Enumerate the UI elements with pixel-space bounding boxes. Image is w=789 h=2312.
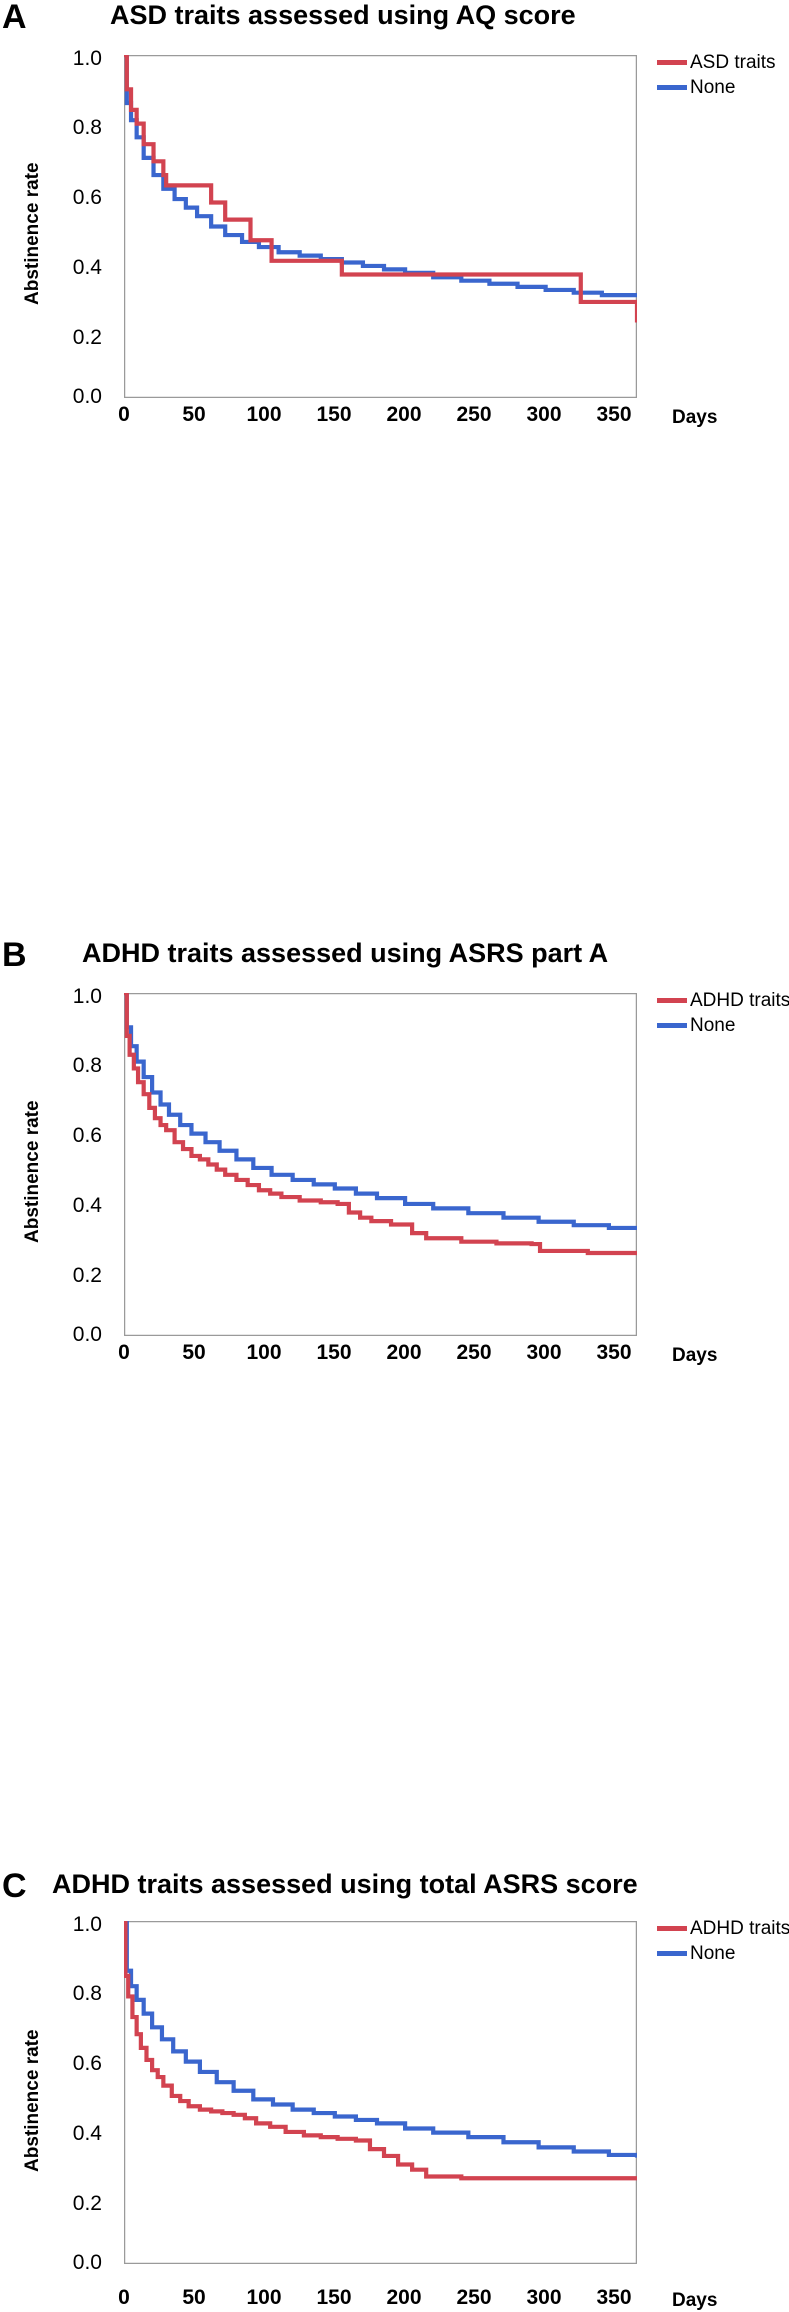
panel-c-xtick-3: 150 bbox=[304, 2287, 364, 2308]
panel-c-xtick-4: 200 bbox=[374, 2287, 434, 2308]
panel-a-xtick-7: 350 bbox=[584, 404, 644, 425]
panel-c-ytick-4: 0.2 bbox=[50, 2193, 102, 2214]
legend-label-none: None bbox=[690, 77, 735, 99]
panel-a-xtick-6: 300 bbox=[514, 404, 574, 425]
panel-b: B ADHD traits assessed using ASRS part A… bbox=[0, 466, 789, 932]
panel-a-xtick-2: 100 bbox=[234, 404, 294, 425]
legend-swatch-traits bbox=[657, 60, 687, 65]
legend-swatch-none bbox=[657, 85, 687, 90]
legend-item-none: None bbox=[657, 75, 776, 100]
legend-item-traits: ADHD traits bbox=[657, 1916, 789, 1941]
panel-c-title: ADHD traits assessed using total ASRS sc… bbox=[52, 1871, 638, 1898]
panel-c-y-axis-label: Abstinence rate bbox=[22, 2029, 44, 2172]
panel-c-xtick-7: 350 bbox=[584, 2287, 644, 2308]
panel-c-xtick-1: 50 bbox=[164, 2287, 224, 2308]
panel-c-x-axis-label: Days bbox=[672, 2290, 717, 2312]
legend-label-traits: ADHD traits bbox=[690, 1918, 789, 1940]
legend-label-none: None bbox=[690, 1943, 735, 1965]
panel-a-legend: ASD traits None bbox=[657, 50, 776, 100]
panel-c: C ADHD traits assessed using total ASRS … bbox=[0, 932, 789, 1391]
panel-a-xtick-5: 250 bbox=[444, 404, 504, 425]
legend-item-none: None bbox=[657, 1941, 789, 1966]
panel-c-plot bbox=[124, 1921, 637, 2264]
figure-kaplan-meier-panels: A ASD traits assessed using AQ score Abs… bbox=[0, 0, 789, 1391]
panel-c-ytick-2: 0.6 bbox=[50, 2053, 102, 2074]
panel-a-ytick-1: 0.8 bbox=[50, 117, 102, 138]
panel-a: A ASD traits assessed using AQ score Abs… bbox=[0, 0, 789, 466]
panel-c-letter: C bbox=[2, 1869, 27, 1903]
panel-a-xtick-1: 50 bbox=[164, 404, 224, 425]
panel-a-xtick-4: 200 bbox=[374, 404, 434, 425]
panel-c-xtick-6: 300 bbox=[514, 2287, 574, 2308]
panel-a-title: ASD traits assessed using AQ score bbox=[110, 2, 576, 29]
panel-a-letter: A bbox=[2, 0, 27, 34]
panel-c-xtick-2: 100 bbox=[234, 2287, 294, 2308]
panel-a-ytick-4: 0.2 bbox=[50, 327, 102, 348]
panel-a-svg bbox=[124, 55, 637, 398]
panel-a-xtick-3: 150 bbox=[304, 404, 364, 425]
panel-c-ytick-1: 0.8 bbox=[50, 1983, 102, 2004]
panel-c-xtick-0: 0 bbox=[94, 2287, 154, 2308]
panel-c-ytick-0: 1.0 bbox=[50, 1914, 102, 1935]
panel-a-ytick-3: 0.4 bbox=[50, 257, 102, 278]
panel-a-ytick-2: 0.6 bbox=[50, 187, 102, 208]
legend-item-traits: ASD traits bbox=[657, 50, 776, 75]
panel-a-x-axis-label: Days bbox=[672, 407, 717, 429]
panel-c-xtick-5: 250 bbox=[444, 2287, 504, 2308]
legend-swatch-none bbox=[657, 1951, 687, 1956]
legend-swatch-traits bbox=[657, 1926, 687, 1931]
panel-c-ytick-5: 0.0 bbox=[50, 2252, 102, 2273]
legend-label-traits: ASD traits bbox=[690, 52, 776, 74]
panel-a-ytick-0: 1.0 bbox=[50, 48, 102, 69]
panel-a-y-axis-label: Abstinence rate bbox=[22, 162, 44, 305]
panel-c-legend: ADHD traits None bbox=[657, 1916, 789, 1966]
panel-c-ytick-3: 0.4 bbox=[50, 2123, 102, 2144]
panel-a-xtick-0: 0 bbox=[94, 404, 154, 425]
panel-a-plot bbox=[124, 55, 637, 398]
panel-c-svg bbox=[124, 1921, 637, 2264]
